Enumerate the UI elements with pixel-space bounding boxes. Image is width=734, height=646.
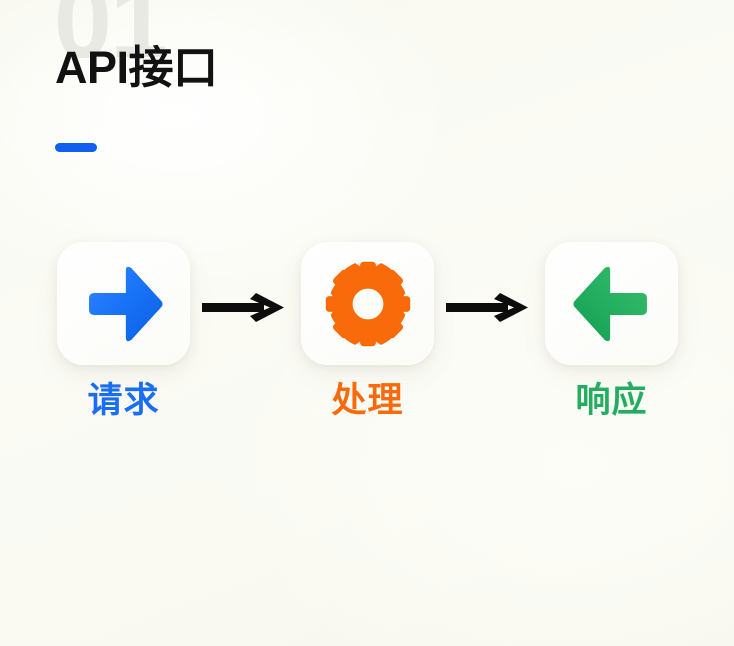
request-icon-card[interactable] xyxy=(57,242,190,365)
flow-step-label-request: 请求 xyxy=(57,383,190,418)
arrow-left-icon xyxy=(566,258,658,350)
page-background: 01 API接口 请求 xyxy=(0,0,734,646)
flow-connector-1 xyxy=(200,290,288,326)
title-accent-bar xyxy=(55,143,97,152)
flow-step-label-process: 处理 xyxy=(301,383,434,418)
arrow-right-connector-icon xyxy=(444,290,532,326)
arrow-right-icon xyxy=(78,258,170,350)
api-flow-diagram: 请求 xyxy=(0,242,734,427)
header: 01 API接口 xyxy=(0,0,734,190)
flow-step-response[interactable]: 响应 xyxy=(545,242,678,418)
page-title: API接口 xyxy=(55,42,218,94)
process-icon-card[interactable] xyxy=(301,242,434,365)
arrow-right-connector-icon xyxy=(200,290,288,326)
response-icon-card[interactable] xyxy=(545,242,678,365)
flow-step-label-response: 响应 xyxy=(545,383,678,418)
flow-step-request[interactable]: 请求 xyxy=(57,242,190,418)
flow-connector-2 xyxy=(444,290,532,326)
flow-step-process[interactable]: 处理 xyxy=(301,242,434,418)
gear-icon xyxy=(324,260,412,348)
